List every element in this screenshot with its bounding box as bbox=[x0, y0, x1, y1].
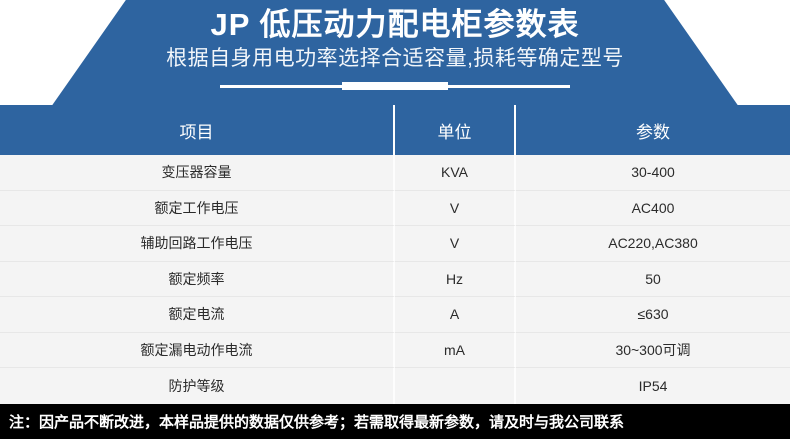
row-unit: A bbox=[395, 297, 516, 333]
table-row: 额定漏电动作电流 mA 30~300可调 bbox=[0, 333, 790, 369]
row-param: 30~300可调 bbox=[516, 333, 790, 369]
row-unit bbox=[395, 368, 516, 404]
row-param: 50 bbox=[516, 262, 790, 298]
table-row: 额定频率 Hz 50 bbox=[0, 262, 790, 298]
column-header-param: 参数 bbox=[516, 105, 790, 155]
table-row: 额定电流 A ≤630 bbox=[0, 297, 790, 333]
page-title: JP 低压动力配电柜参数表 bbox=[211, 5, 580, 45]
row-unit: V bbox=[395, 191, 516, 227]
divider-thick-center bbox=[342, 82, 448, 90]
table-row: 防护等级 IP54 bbox=[0, 368, 790, 404]
row-item-name: 额定工作电压 bbox=[0, 191, 395, 227]
specification-table: 项目 单位 参数 变压器容量 KVA 30-400 额定工作电压 V AC400… bbox=[0, 105, 790, 404]
row-unit: KVA bbox=[395, 155, 516, 191]
footer-note-bar: 注：因产品不断改进，本样品提供的数据仅供参考；若需取得最新参数，请及时与我公司联… bbox=[0, 404, 790, 439]
column-header-item: 项目 bbox=[0, 105, 395, 155]
row-item-name: 防护等级 bbox=[0, 368, 395, 404]
row-param: IP54 bbox=[516, 368, 790, 404]
row-param: ≤630 bbox=[516, 297, 790, 333]
row-item-name: 额定电流 bbox=[0, 297, 395, 333]
table-row: 额定工作电压 V AC400 bbox=[0, 191, 790, 227]
page-subtitle: 根据自身用电功率选择合适容量,损耗等确定型号 bbox=[166, 45, 624, 73]
row-item-name: 辅助回路工作电压 bbox=[0, 226, 395, 262]
row-param: AC400 bbox=[516, 191, 790, 227]
column-header-unit: 单位 bbox=[395, 105, 516, 155]
row-unit: Hz bbox=[395, 262, 516, 298]
parameter-table-page: JP 低压动力配电柜参数表 根据自身用电功率选择合适容量,损耗等确定型号 项目 … bbox=[0, 0, 790, 439]
row-item-name: 额定漏电动作电流 bbox=[0, 333, 395, 369]
header-banner: JP 低压动力配电柜参数表 根据自身用电功率选择合适容量,损耗等确定型号 bbox=[0, 0, 790, 105]
row-unit: mA bbox=[395, 333, 516, 369]
row-item-name: 变压器容量 bbox=[0, 155, 395, 191]
row-param: AC220,AC380 bbox=[516, 226, 790, 262]
table-header-row: 项目 单位 参数 bbox=[0, 105, 790, 155]
row-unit: V bbox=[395, 226, 516, 262]
table-row: 辅助回路工作电压 V AC220,AC380 bbox=[0, 226, 790, 262]
table-row: 变压器容量 KVA 30-400 bbox=[0, 155, 790, 191]
row-param: 30-400 bbox=[516, 155, 790, 191]
row-item-name: 额定频率 bbox=[0, 262, 395, 298]
footer-note-text: 注：因产品不断改进，本样品提供的数据仅供参考；若需取得最新参数，请及时与我公司联… bbox=[0, 411, 624, 432]
